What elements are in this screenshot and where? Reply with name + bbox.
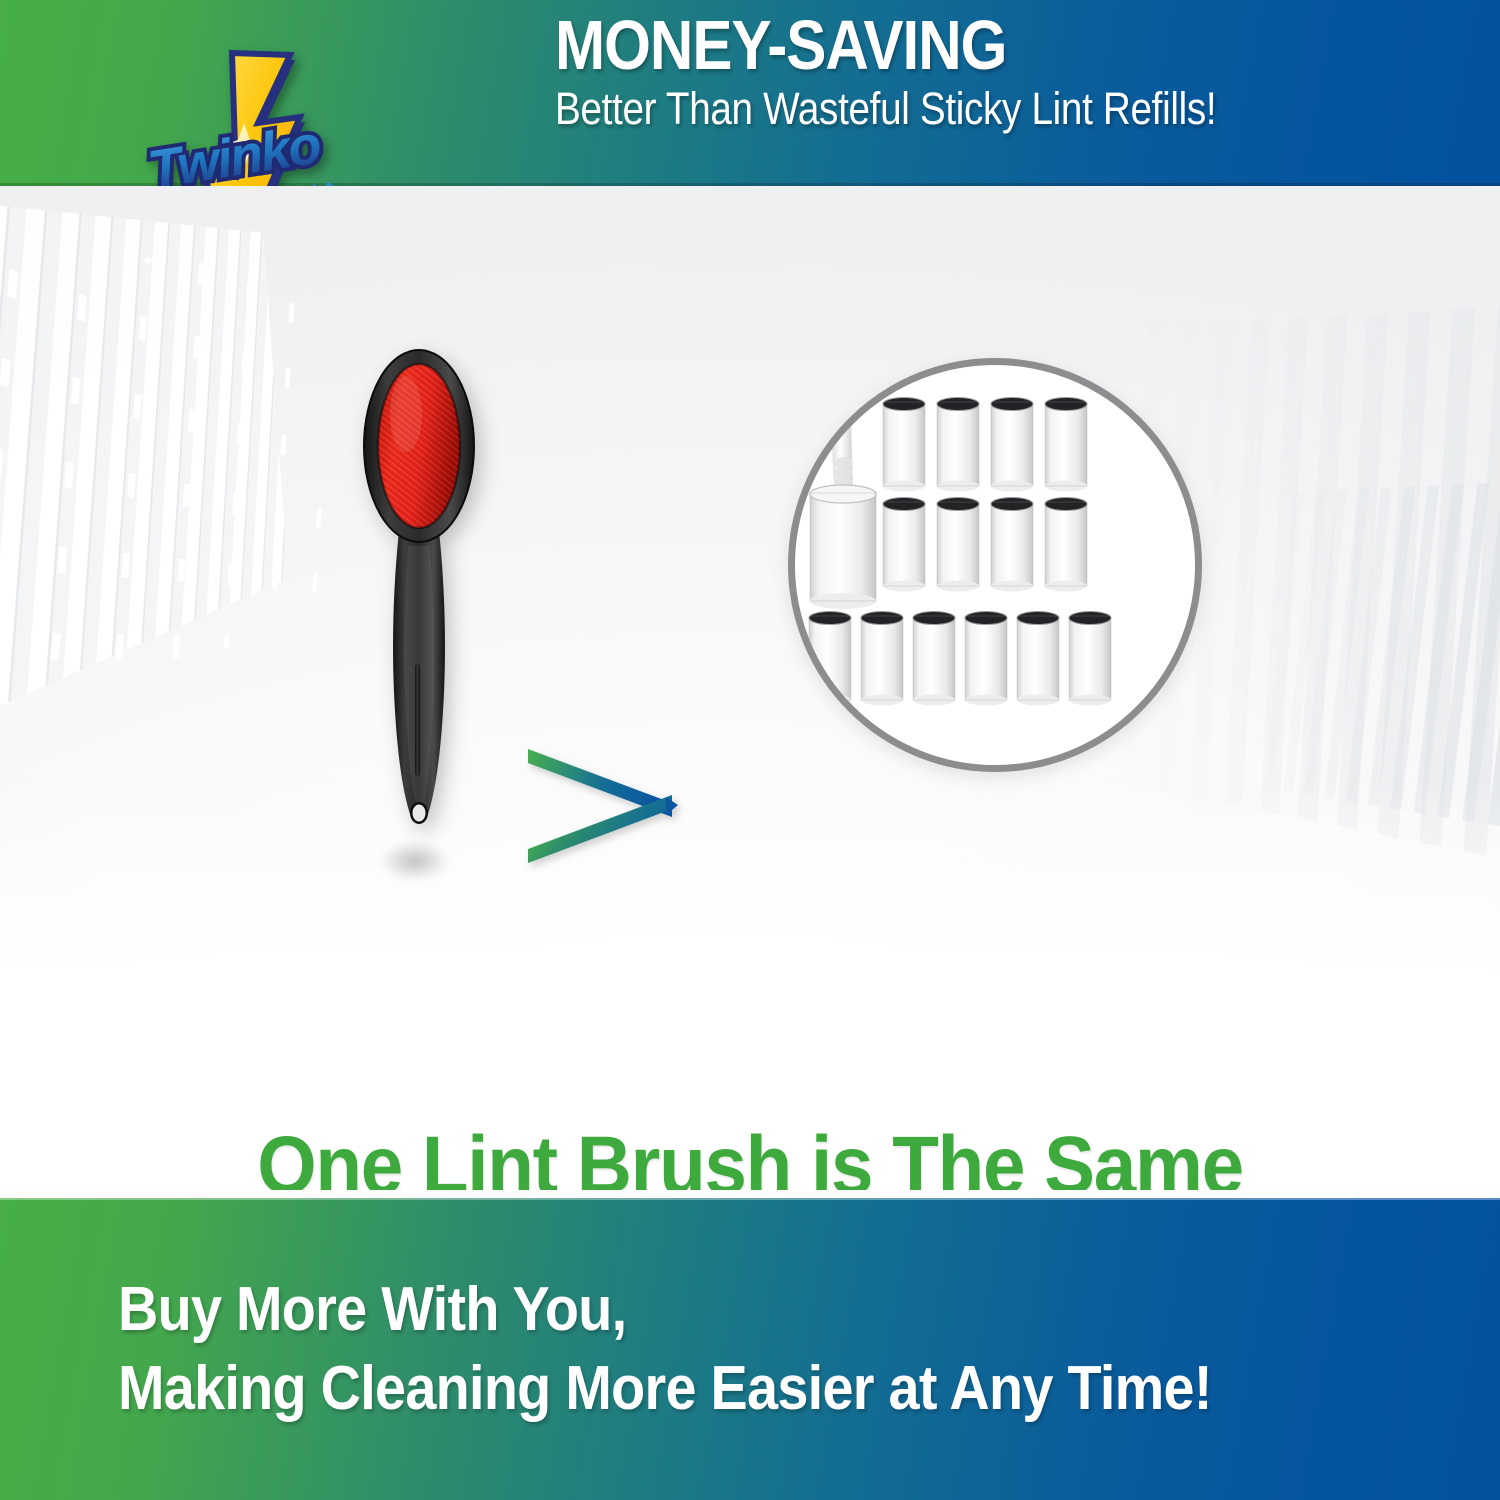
header-subtitle: Better Than Wasteful Sticky Lint Refills… bbox=[555, 85, 1329, 132]
footer-banner: Buy More With You, Making Cleaning More … bbox=[0, 1198, 1500, 1500]
header-title: MONEY-SAVING bbox=[555, 10, 1329, 81]
product-infographic: MONEY-SAVING Better Than Wasteful Sticky… bbox=[0, 0, 1500, 1500]
header-text-group: MONEY-SAVING Better Than Wasteful Sticky… bbox=[555, 10, 1455, 133]
lint-roller-refills-circle-inset bbox=[788, 358, 1202, 772]
background-slat-highlights bbox=[0, 241, 330, 756]
lint-roller-with-handle bbox=[810, 377, 876, 609]
refill-row-2 bbox=[883, 498, 1087, 592]
lint-brush-product bbox=[352, 346, 482, 851]
refill-roll-grid bbox=[795, 365, 1195, 765]
greater-than-chevron bbox=[520, 741, 730, 871]
footer-line-2: Making Cleaning More Easier at Any Time! bbox=[118, 1349, 1324, 1428]
promo-headline: One Lint Brush is The Same as Many Stick… bbox=[0, 1116, 1500, 1196]
background-vertical-bars-secondary bbox=[1198, 481, 1500, 826]
footer-text-group: Buy More With You, Making Cleaning More … bbox=[118, 1270, 1458, 1429]
refill-row-1 bbox=[883, 398, 1087, 492]
main-visual-panel: One Lint Brush is The Same as Many Stick… bbox=[0, 186, 1500, 1196]
promo-headline-line-1: One Lint Brush is The Same bbox=[53, 1116, 1448, 1196]
panel-footer-divider bbox=[0, 1190, 1500, 1198]
footer-line-1: Buy More With You, bbox=[118, 1270, 1324, 1349]
refill-row-3 bbox=[809, 612, 1111, 706]
